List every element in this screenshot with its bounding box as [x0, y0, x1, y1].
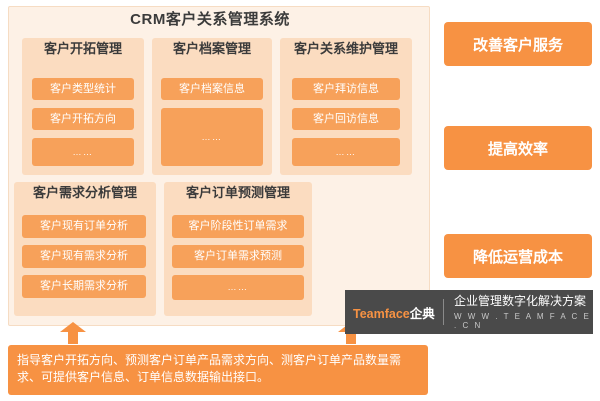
- group-1-item-1[interactable]: 客户类型统计: [32, 78, 134, 100]
- conclusion-text: 指导客户开拓方向、预测客户订单产品需求方向、测客户订单产品数量需求、可提供客户信…: [8, 345, 428, 395]
- group-1-item-3[interactable]: ……: [32, 138, 134, 166]
- group-1-title: 客户开拓管理: [22, 38, 144, 57]
- group-5-item-3[interactable]: ……: [172, 275, 304, 300]
- page-title: CRM客户关系管理系统: [8, 8, 412, 29]
- brand-tagline: 企业管理数字化解决方案: [454, 294, 593, 309]
- group-3-item-3[interactable]: ……: [292, 138, 400, 166]
- brand-watermark: Teamface企典 企业管理数字化解决方案 W W W . T E A M F…: [345, 290, 593, 334]
- diagram-canvas: CRM客户关系管理系统 客户开拓管理 客户类型统计 客户开拓方向 …… 客户档案…: [0, 0, 600, 401]
- brand-url: W W W . T E A M F A C E . C N: [454, 312, 593, 330]
- group-2-item-1[interactable]: 客户档案信息: [161, 78, 263, 100]
- group-2-item-2[interactable]: ……: [161, 108, 263, 166]
- group-3-title: 客户关系维护管理: [280, 38, 412, 57]
- group-4-item-3[interactable]: 客户长期需求分析: [22, 275, 146, 298]
- brand-name-cn: 企典: [410, 307, 435, 321]
- group-4-item-1[interactable]: 客户现有订单分析: [22, 215, 146, 238]
- brand-name: Teamface企典: [345, 303, 443, 322]
- group-4-title: 客户需求分析管理: [14, 182, 156, 201]
- group-2-title: 客户档案管理: [152, 38, 272, 57]
- group-3-item-2[interactable]: 客户回访信息: [292, 108, 400, 130]
- group-3-item-1[interactable]: 客户拜访信息: [292, 78, 400, 100]
- group-4-item-2[interactable]: 客户现有需求分析: [22, 245, 146, 268]
- group-5-item-1[interactable]: 客户阶段性订单需求: [172, 215, 304, 238]
- group-1-item-2[interactable]: 客户开拓方向: [32, 108, 134, 130]
- arrow-up-left-icon: [60, 322, 86, 344]
- brand-tagline-block: 企业管理数字化解决方案 W W W . T E A M F A C E . C …: [444, 294, 593, 330]
- brand-name-en: Teamface: [353, 307, 410, 321]
- benefit-box-2[interactable]: 提高效率: [444, 126, 592, 170]
- benefit-box-3[interactable]: 降低运营成本: [444, 234, 592, 278]
- benefit-box-1[interactable]: 改善客户服务: [444, 22, 592, 66]
- group-5-item-2[interactable]: 客户订单需求预测: [172, 245, 304, 268]
- group-5-title: 客户订单预测管理: [164, 182, 312, 201]
